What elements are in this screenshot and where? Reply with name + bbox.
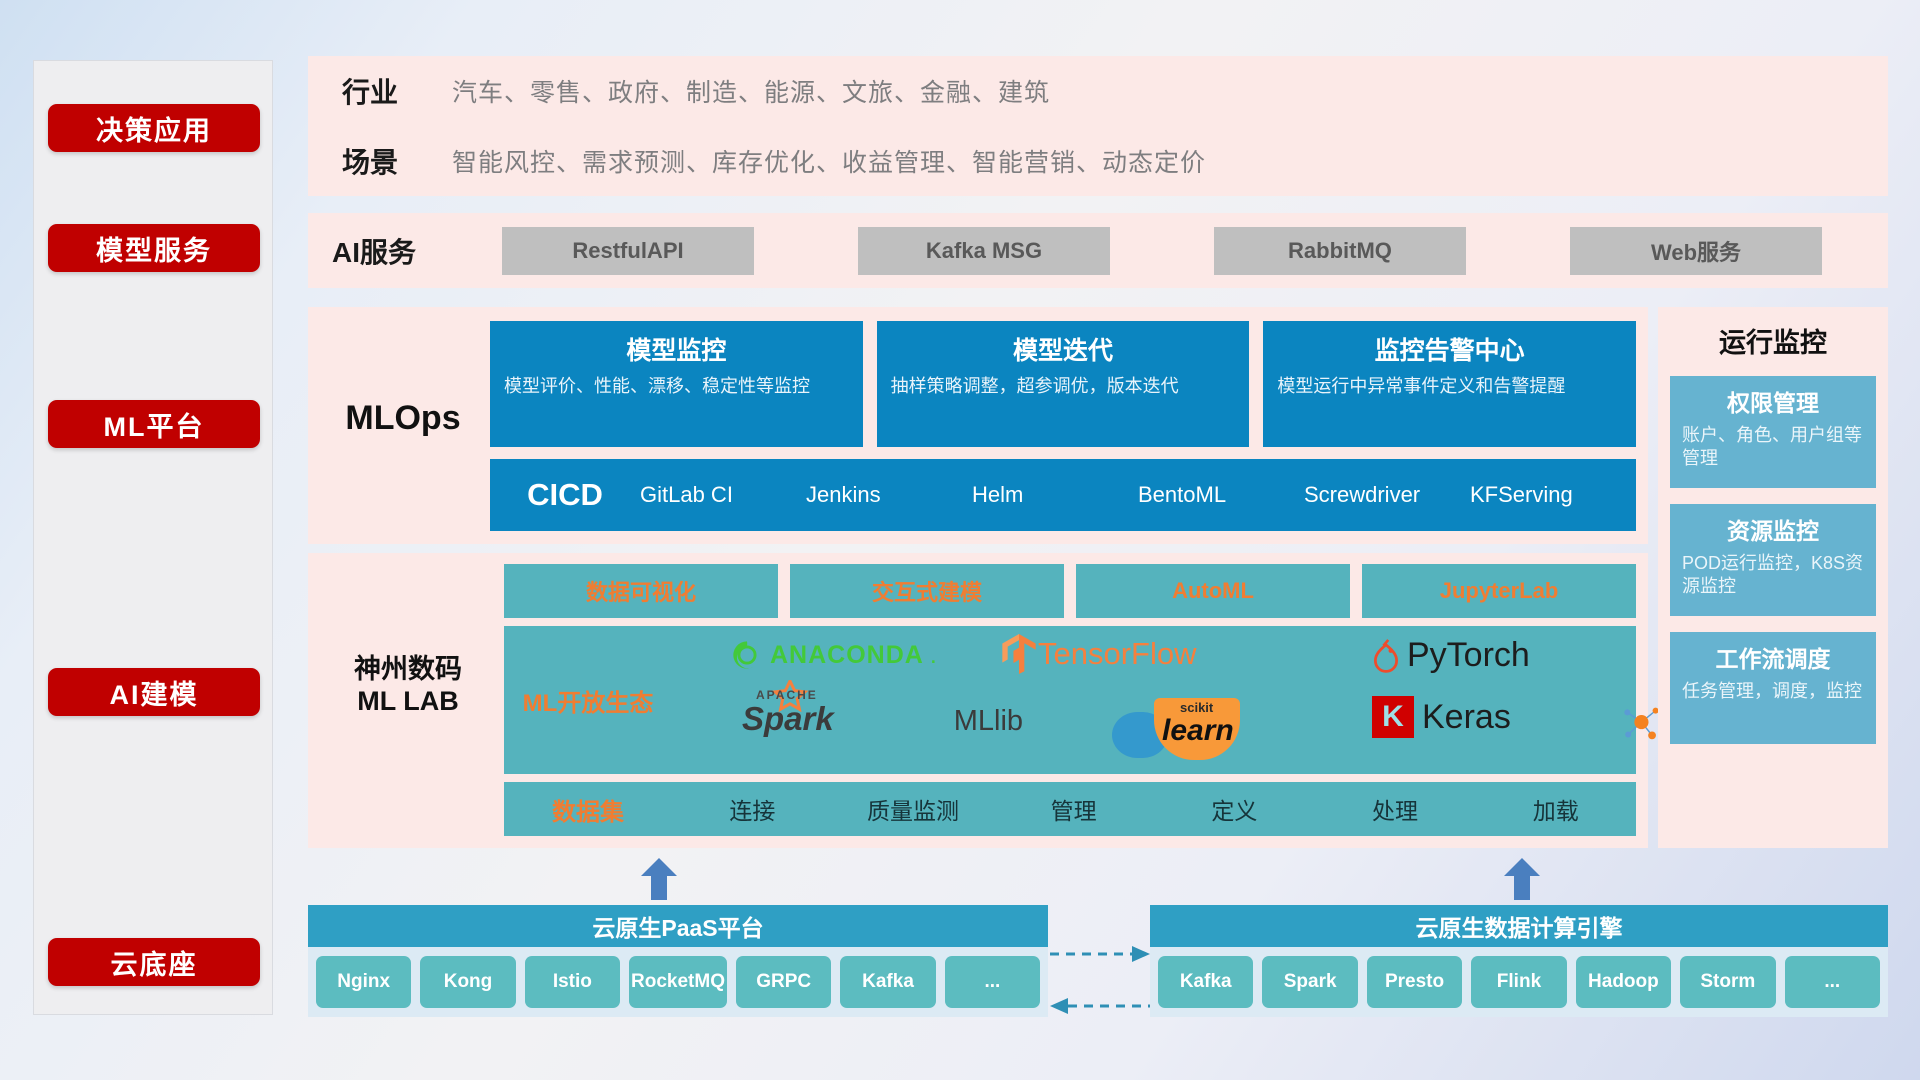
ml-lab-key: 神州数码 ML LAB	[324, 653, 492, 718]
ml-lab-key-line2: ML LAB	[324, 685, 492, 717]
pytorch-logo: PyTorch	[1372, 636, 1530, 675]
mlops-card-title: 模型迭代	[891, 331, 1236, 367]
cloud-chip-istio[interactable]: Istio	[525, 956, 620, 1008]
cloud-data-engine-title: 云原生数据计算引擎	[1150, 905, 1888, 947]
business-row-scenario: 场景 智能风控、需求预测、库存优化、收益管理、智能营销、动态定价	[308, 126, 1888, 196]
ai-service-chip-kafka-msg[interactable]: Kafka MSG	[858, 227, 1110, 275]
cloud-chip-more[interactable]: ...	[1785, 956, 1880, 1008]
tensorflow-logo: TensorFlow	[1002, 634, 1197, 674]
ml-lab-key-line1: 神州数码	[324, 653, 492, 685]
pytorch-wordmark: PyTorch	[1407, 636, 1530, 675]
mlops-card-model-monitoring[interactable]: 模型监控 模型评价、性能、漂移、稳定性等监控	[490, 321, 863, 447]
cicd-item-list: GitLab CI Jenkins Helm BentoML Screwdriv…	[640, 483, 1636, 506]
rail-label-model-service: 模型服务	[48, 224, 260, 272]
ml-open-ecosystem-row: ML开放生态 ANACONDA .	[504, 626, 1636, 774]
runtime-monitoring-title: 运行监控	[1658, 321, 1888, 360]
anaconda-logo: ANACONDA .	[730, 638, 937, 672]
ops-card-workflow-scheduling[interactable]: 工作流调度 任务管理，调度，监控	[1670, 632, 1876, 744]
rail-label-text: AI建模	[110, 673, 199, 712]
dataset-item-list: 连接 质量监测 管理 定义 处理 加载	[672, 792, 1636, 826]
ops-card-title: 权限管理	[1682, 384, 1864, 418]
cicd-item-jenkins[interactable]: Jenkins	[806, 483, 972, 506]
anaconda-dot: .	[930, 641, 937, 670]
rail-label-text: ML平台	[104, 405, 205, 444]
ai-service-chip-list: RestfulAPI Kafka MSG RabbitMQ Web服务	[450, 227, 1888, 275]
networkx-icon	[1622, 702, 1661, 744]
business-panel: 行业 汽车、零售、政府、制造、能源、文旅、金融、建筑 场景 智能风控、需求预测、…	[308, 56, 1888, 196]
cloud-data-engine-chip-list: Kafka Spark Presto Flink Hadoop Storm ..…	[1150, 947, 1888, 1017]
ml-lab-panel: 神州数码 ML LAB 数据可视化 交互式建模 AutoML JupyterLa…	[308, 553, 1648, 848]
dataset-item-process[interactable]: 处理	[1315, 792, 1476, 826]
up-arrow-data-engine-icon	[1500, 856, 1544, 900]
cicd-bar: CICD GitLab CI Jenkins Helm BentoML Scre…	[490, 459, 1636, 531]
learn-text: learn	[1162, 714, 1234, 748]
pytorch-icon	[1372, 639, 1400, 673]
dataset-item-connect[interactable]: 连接	[672, 792, 833, 826]
mlops-card-title: 监控告警中心	[1277, 331, 1622, 367]
business-value-industry: 汽车、零售、政府、制造、能源、文旅、金融、建筑	[452, 73, 1050, 109]
spark-apache-text: APACHE	[756, 688, 818, 702]
cloud-paas-title: 云原生PaaS平台	[308, 905, 1048, 947]
ml-lab-tab-list: 数据可视化 交互式建模 AutoML JupyterLab	[504, 564, 1636, 618]
business-row-industry: 行业 汽车、零售、政府、制造、能源、文旅、金融、建筑	[308, 56, 1888, 126]
keras-icon: K	[1372, 696, 1414, 738]
rail-label-ml-platform: ML平台	[48, 400, 260, 448]
business-key-industry: 行业	[342, 71, 452, 111]
ops-card-desc: POD运行监控，K8S资源监控	[1682, 552, 1864, 599]
tensorflow-wordmark: TensorFlow	[1038, 636, 1197, 672]
cloud-chip-flink[interactable]: Flink	[1471, 956, 1566, 1008]
ai-service-panel: AI服务 RestfulAPI Kafka MSG RabbitMQ Web服务	[308, 213, 1888, 288]
flow-arrow-left-icon	[1050, 998, 1068, 1014]
keras-k-glyph: K	[1382, 700, 1404, 734]
dataset-row: 数据集 连接 质量监测 管理 定义 处理 加载	[504, 782, 1636, 836]
ops-card-permission-management[interactable]: 权限管理 账户、角色、用户组等管理	[1670, 376, 1876, 488]
diagram-canvas: 决策应用 模型服务 ML平台 AI建模 云底座 行业 汽车、零售、政府、制造、能…	[0, 0, 1920, 1080]
ml-lab-tab-interactive-modeling[interactable]: 交互式建模	[790, 564, 1064, 618]
ai-service-key: AI服务	[332, 231, 450, 271]
keras-logo: K Keras	[1372, 696, 1511, 738]
ai-service-chip-rabbitmq[interactable]: RabbitMQ	[1214, 227, 1466, 275]
cloud-chip-kafka[interactable]: Kafka	[840, 956, 935, 1008]
spark-mllib-logo: APACHE Spark MLlib	[742, 700, 1023, 738]
cicd-item-screwdriver[interactable]: Screwdriver	[1304, 483, 1470, 506]
cloud-chip-more[interactable]: ...	[945, 956, 1040, 1008]
rail-label-text: 模型服务	[96, 229, 212, 268]
mlops-card-title: 模型监控	[504, 331, 849, 367]
anaconda-icon	[730, 638, 764, 672]
tensorflow-icon	[1002, 634, 1036, 674]
rail-label-cloud-base: 云底座	[48, 938, 260, 986]
cloud-chip-grpc[interactable]: GRPC	[736, 956, 831, 1008]
cloud-chip-hadoop[interactable]: Hadoop	[1576, 956, 1671, 1008]
business-key-scenario: 场景	[342, 141, 452, 181]
ops-card-desc: 任务管理，调度，监控	[1682, 680, 1864, 703]
mlops-card-alert-center[interactable]: 监控告警中心 模型运行中异常事件定义和告警提醒	[1263, 321, 1636, 447]
cloud-chip-kong[interactable]: Kong	[420, 956, 515, 1008]
ai-service-chip-web-service[interactable]: Web服务	[1570, 227, 1822, 275]
ml-lab-tab-data-visualization[interactable]: 数据可视化	[504, 564, 778, 618]
anaconda-wordmark: ANACONDA	[770, 641, 924, 670]
dataset-key: 数据集	[504, 792, 672, 827]
rail-label-text: 决策应用	[96, 109, 212, 148]
ai-service-chip-restfulapi[interactable]: RestfulAPI	[502, 227, 754, 275]
ops-card-resource-monitoring[interactable]: 资源监控 POD运行监控，K8S资源监控	[1670, 504, 1876, 616]
ops-card-desc: 账户、角色、用户组等管理	[1682, 424, 1864, 471]
mlops-panel: MLOps 模型监控 模型评价、性能、漂移、稳定性等监控 模型迭代 抽样策略调整…	[308, 307, 1648, 544]
cicd-item-helm[interactable]: Helm	[972, 483, 1138, 506]
cloud-chip-presto[interactable]: Presto	[1367, 956, 1462, 1008]
mlops-key: MLOps	[328, 399, 478, 438]
cicd-item-bentoml[interactable]: BentoML	[1138, 483, 1304, 506]
cloud-paas-group: 云原生PaaS平台 Nginx Kong Istio RocketMQ GRPC…	[308, 905, 1048, 1017]
cicd-item-kfserving[interactable]: KFServing	[1470, 483, 1636, 506]
mlops-card-model-iteration[interactable]: 模型迭代 抽样策略调整，超参调优，版本迭代	[877, 321, 1250, 447]
rail-label-text: 云底座	[111, 943, 198, 982]
dataset-item-quality-monitoring[interactable]: 质量监测	[833, 792, 994, 826]
ops-card-title: 工作流调度	[1682, 640, 1864, 674]
keras-wordmark: Keras	[1422, 698, 1511, 737]
mlops-card-desc: 抽样策略调整，超参调优，版本迭代	[891, 375, 1236, 399]
cloud-chip-storm[interactable]: Storm	[1680, 956, 1775, 1008]
mlops-card-desc: 模型评价、性能、漂移、稳定性等监控	[504, 375, 849, 399]
ml-open-ecosystem-key: ML开放生态	[504, 683, 672, 718]
dataset-item-load[interactable]: 加载	[1475, 792, 1636, 826]
mlops-card-list: 模型监控 模型评价、性能、漂移、稳定性等监控 模型迭代 抽样策略调整，超参调优，…	[490, 321, 1636, 447]
ml-lab-tab-automl[interactable]: AutoML	[1076, 564, 1350, 618]
mlops-card-desc: 模型运行中异常事件定义和告警提醒	[1277, 375, 1622, 399]
cloud-chip-nginx[interactable]: Nginx	[316, 956, 411, 1008]
cloud-chip-spark[interactable]: Spark	[1262, 956, 1357, 1008]
cloud-data-engine-group: 云原生数据计算引擎 Kafka Spark Presto Flink Hadoo…	[1150, 905, 1888, 1017]
bidirectional-flow-arrows	[1048, 940, 1152, 1020]
business-value-scenario: 智能风控、需求预测、库存优化、收益管理、智能营销、动态定价	[452, 143, 1206, 179]
cloud-chip-kafka[interactable]: Kafka	[1158, 956, 1253, 1008]
dataset-item-define[interactable]: 定义	[1154, 792, 1315, 826]
mllib-wordmark: MLlib	[954, 705, 1023, 738]
cloud-paas-chip-list: Nginx Kong Istio RocketMQ GRPC Kafka ...	[308, 947, 1048, 1017]
flow-arrow-right-icon	[1132, 946, 1150, 962]
cicd-item-gitlab-ci[interactable]: GitLab CI	[640, 483, 806, 506]
rail-label-ai-modeling: AI建模	[48, 668, 260, 716]
runtime-monitoring-panel: 运行监控 权限管理 账户、角色、用户组等管理 资源监控 POD运行监控，K8S资…	[1658, 307, 1888, 848]
cicd-title: CICD	[490, 477, 640, 513]
rail-label-decision-app: 决策应用	[48, 104, 260, 152]
ops-card-title: 资源监控	[1682, 512, 1864, 546]
up-arrow-paas-icon	[637, 856, 681, 900]
left-layer-rail	[33, 60, 273, 1015]
dataset-item-manage[interactable]: 管理	[993, 792, 1154, 826]
ml-lab-tab-jupyterlab[interactable]: JupyterLab	[1362, 564, 1636, 618]
scikit-text: scikit	[1180, 700, 1213, 715]
ml-open-ecosystem-logos: ANACONDA . TensorFlow	[672, 626, 1636, 774]
cloud-chip-rocketmq[interactable]: RocketMQ	[629, 956, 727, 1008]
